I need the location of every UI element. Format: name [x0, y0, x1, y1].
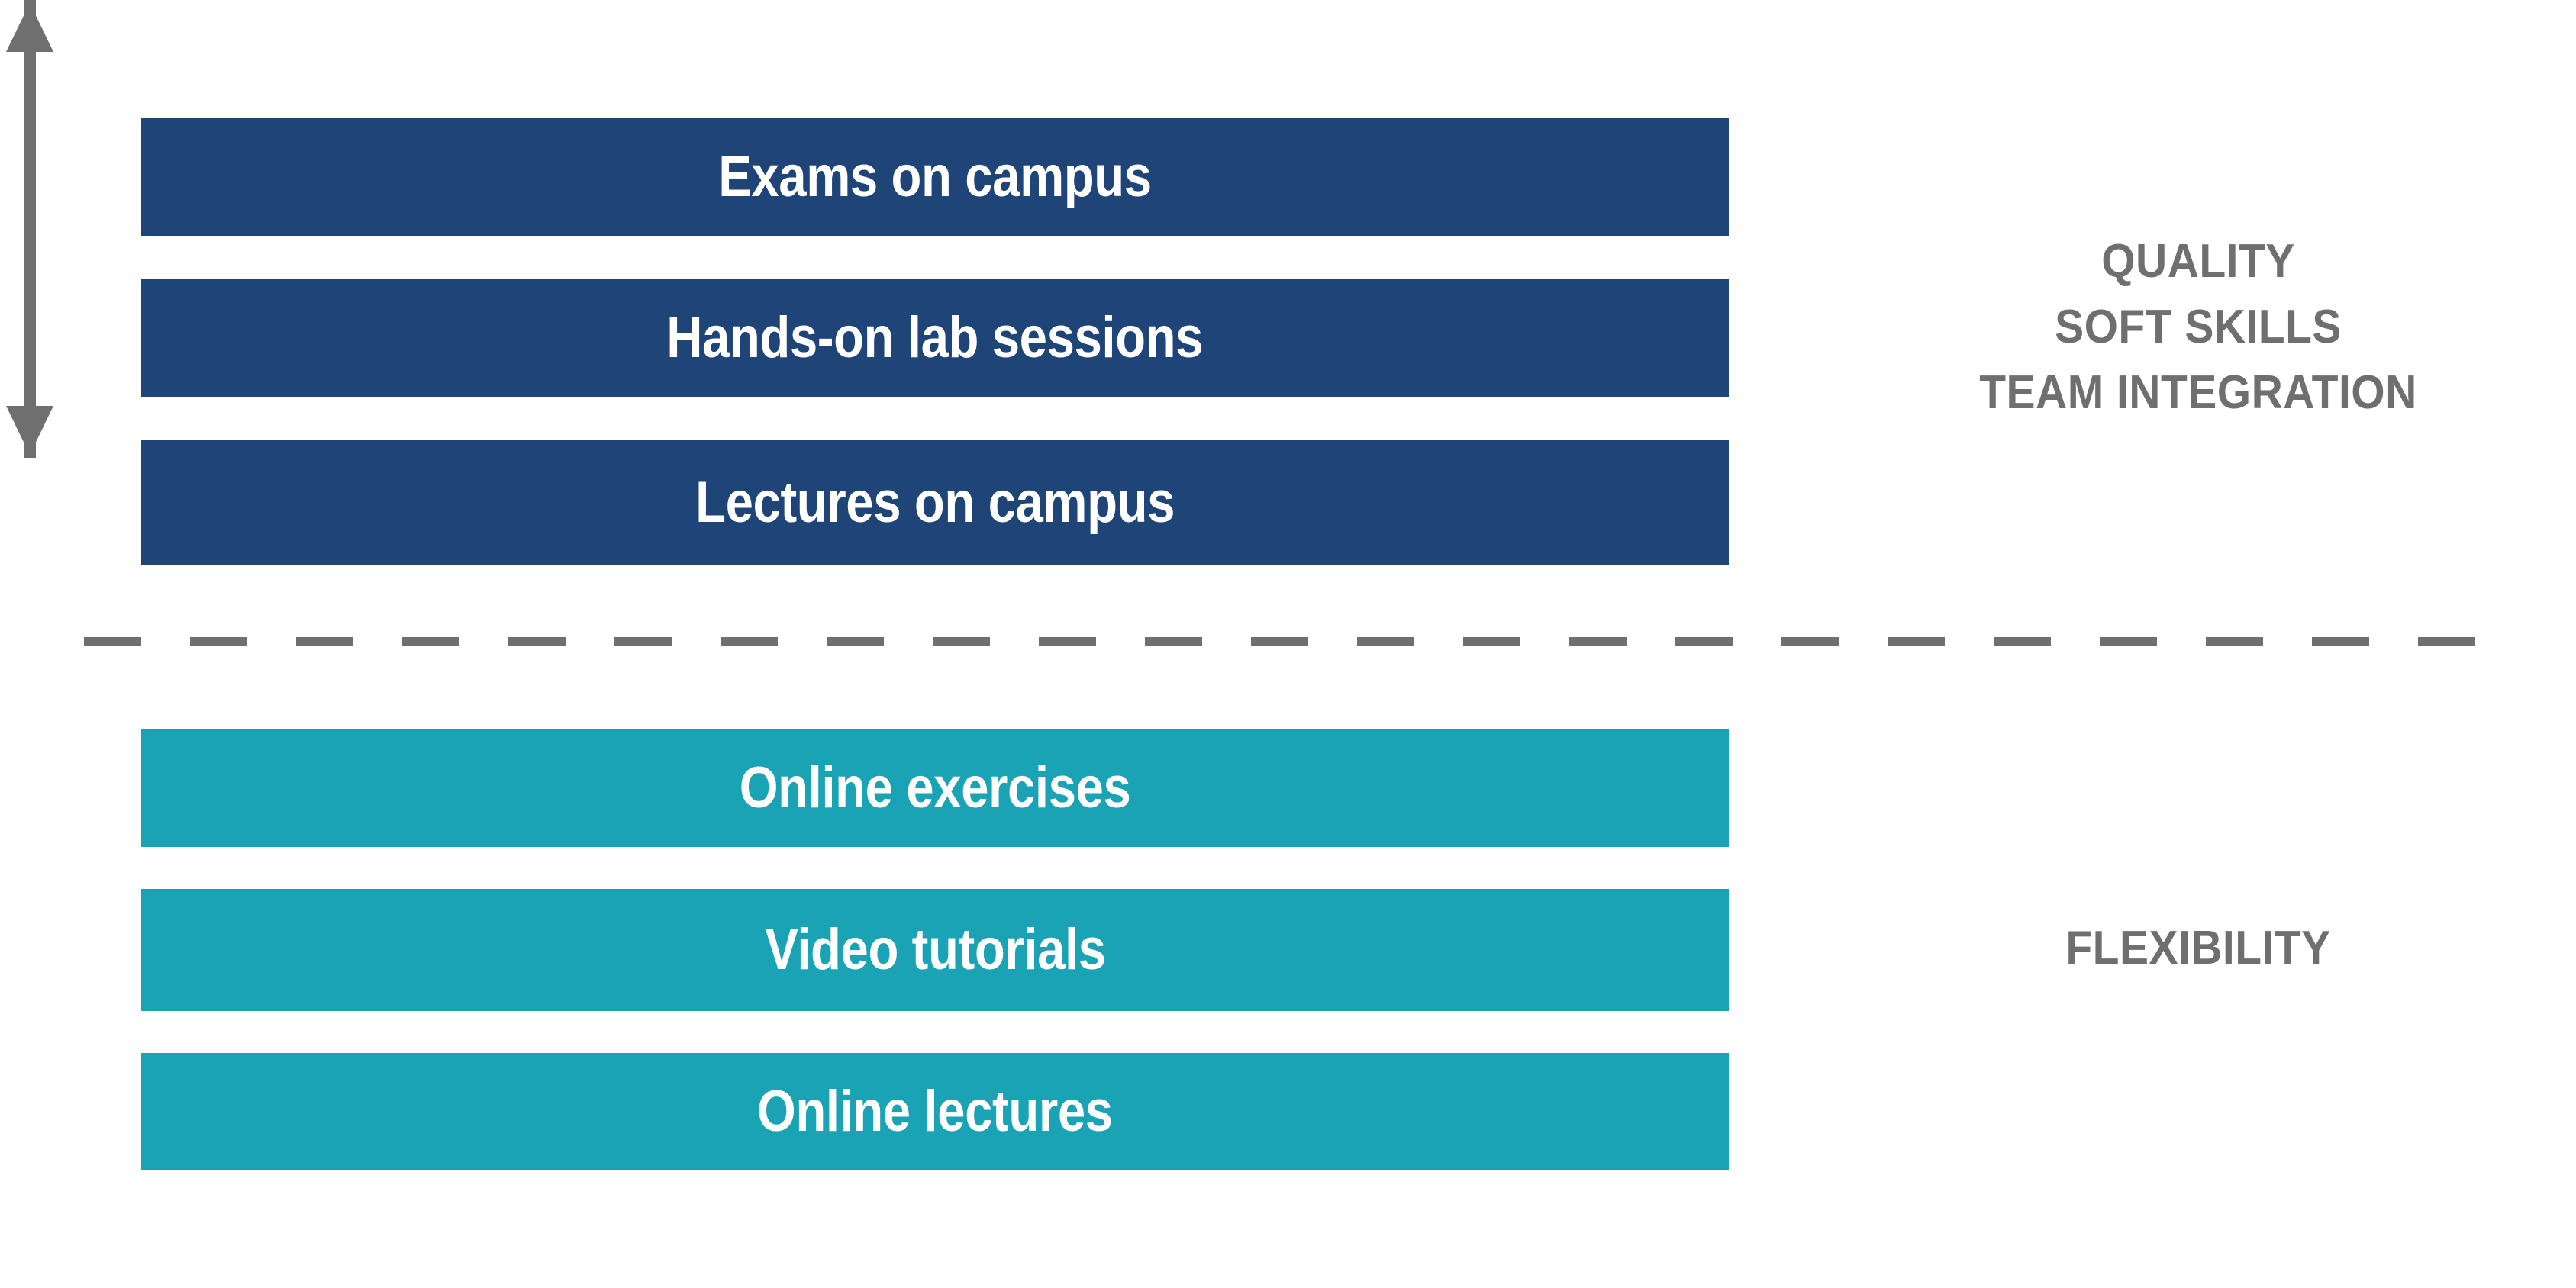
bar-exams-on-campus[interactable]: Exams on campus [141, 118, 1729, 236]
dashed-divider-icon [84, 637, 2492, 646]
bar-video-tutorials[interactable]: Video tutorials [141, 889, 1729, 1011]
bar-online-lectures[interactable]: Online lectures [141, 1053, 1729, 1170]
bar-label: Online exercises [740, 759, 1131, 817]
diagram-canvas: Exams on campus Hands-on lab sessions Le… [0, 0, 2576, 1288]
annotation-line-quality: QUALITY [1910, 229, 2486, 295]
bar-label: Video tutorials [765, 921, 1105, 979]
annotation-line-soft-skills: SOFT SKILLS [1910, 295, 2486, 360]
bar-online-exercises[interactable]: Online exercises [141, 729, 1729, 847]
annotation-quality-block: QUALITY SOFT SKILLS TEAM INTEGRATION [1910, 229, 2486, 426]
annotation-line-team-integration: TEAM INTEGRATION [1910, 360, 2486, 426]
annotation-line-flexibility: FLEXIBILITY [1910, 916, 2486, 981]
bar-label: Exams on campus [718, 148, 1151, 206]
bar-label: Hands-on lab sessions [667, 309, 1204, 367]
bar-hands-on-lab-sessions[interactable]: Hands-on lab sessions [141, 279, 1729, 397]
bar-lectures-on-campus[interactable]: Lectures on campus [141, 440, 1729, 565]
bar-label: Online lectures [757, 1083, 1113, 1141]
annotation-flexibility-block: FLEXIBILITY [1910, 916, 2486, 981]
bar-label: Lectures on campus [695, 474, 1175, 532]
